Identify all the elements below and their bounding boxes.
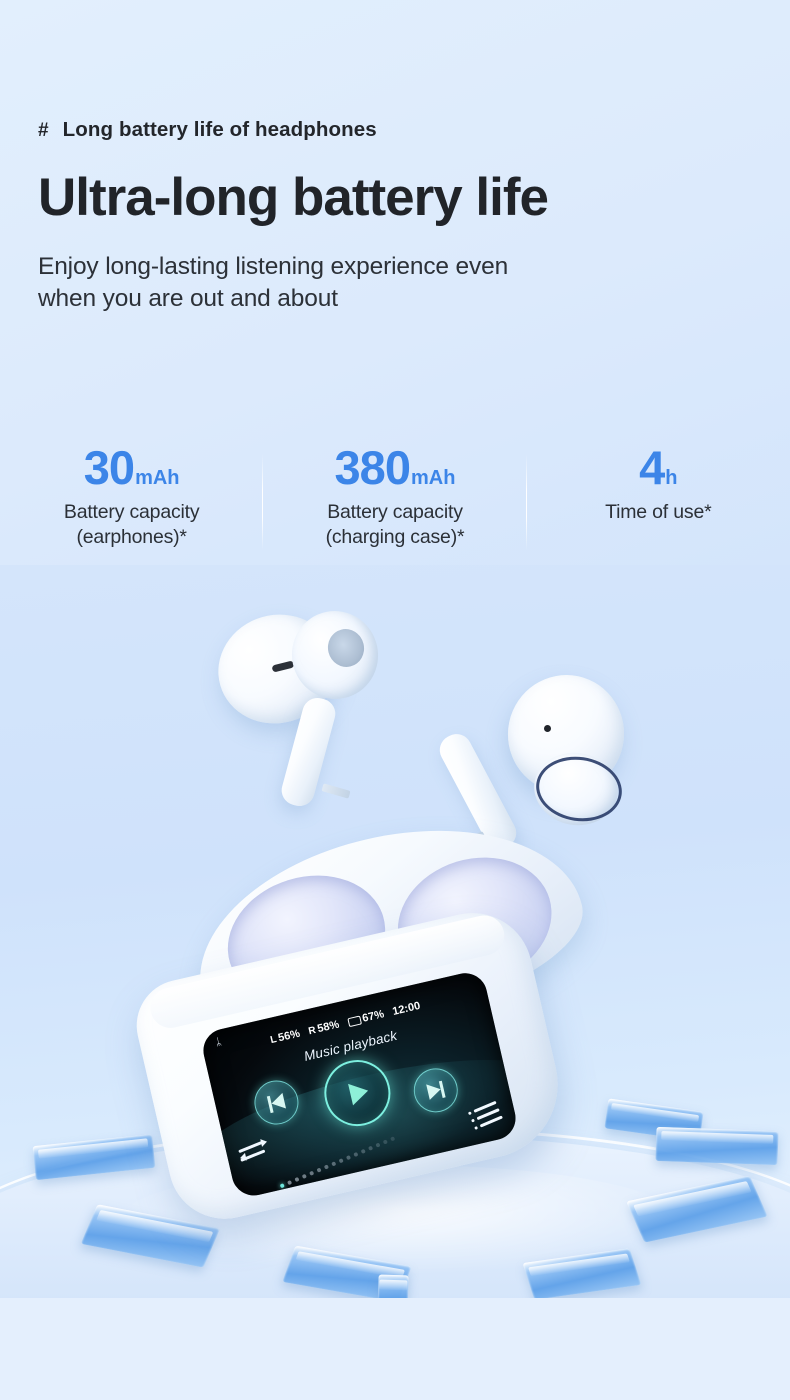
stat-number: 4 bbox=[639, 444, 664, 491]
earbud-right-mic-hole bbox=[544, 725, 551, 732]
previous-track-icon bbox=[270, 1093, 286, 1112]
eyebrow-text: Long battery life of headphones bbox=[63, 118, 377, 142]
stat-time-of-use: 4 h Time of use* bbox=[527, 440, 790, 565]
earbud-left-stem-tip bbox=[321, 783, 350, 798]
page-title: Ultra-long battery life bbox=[38, 170, 678, 225]
stat-number: 30 bbox=[84, 444, 134, 491]
left-bud-icon: L bbox=[269, 1034, 277, 1046]
hash-symbol: # bbox=[38, 120, 49, 142]
stat-number: 380 bbox=[335, 444, 410, 491]
right-bud-icon: R bbox=[307, 1024, 317, 1036]
stat-label-line-2: (charging case)* bbox=[263, 525, 526, 550]
header-copy-block: # Long battery life of headphones Ultra-… bbox=[38, 118, 678, 316]
play-icon bbox=[348, 1080, 370, 1105]
clock: 12:00 bbox=[391, 1000, 421, 1018]
earbud-left bbox=[214, 605, 404, 820]
eyebrow: # Long battery life of headphones bbox=[38, 118, 678, 142]
stat-label-line-1: Battery capacity bbox=[263, 500, 526, 525]
stat-battery-earphones: 30 mAh Battery capacity (earphones)* bbox=[0, 440, 263, 565]
battery-left-value: 56% bbox=[277, 1028, 301, 1045]
stat-label-line-1: Time of use* bbox=[527, 500, 790, 525]
product-scene: ᛦ L 56% R 58% 67% 12:00 bbox=[0, 565, 790, 1298]
stat-label: Battery capacity (charging case)* bbox=[263, 500, 526, 550]
battery-left-indicator: L 56% bbox=[269, 1028, 301, 1046]
stat-unit: mAh bbox=[135, 468, 179, 488]
glass-bar bbox=[377, 1274, 408, 1298]
page-subtitle: Enjoy long-lasting listening experience … bbox=[38, 251, 678, 316]
stat-value-group: 4 h bbox=[527, 444, 790, 491]
stat-label-line-1: Battery capacity bbox=[0, 500, 263, 525]
stat-label-line-2: (earphones)* bbox=[0, 525, 263, 550]
subtitle-line-2: when you are out and about bbox=[38, 283, 678, 315]
stat-label: Battery capacity (earphones)* bbox=[0, 500, 263, 550]
battery-right-indicator: R 58% bbox=[307, 1019, 340, 1038]
battery-case-value: 67% bbox=[361, 1008, 385, 1025]
subtitle-line-1: Enjoy long-lasting listening experience … bbox=[38, 251, 678, 283]
bottom-background-strip bbox=[0, 1298, 790, 1400]
stat-unit: mAh bbox=[411, 468, 455, 488]
stat-battery-case: 380 mAh Battery capacity (charging case)… bbox=[263, 440, 526, 565]
product-feature-page: # Long battery life of headphones Ultra-… bbox=[0, 0, 790, 1400]
glass-bar bbox=[655, 1127, 778, 1165]
case-battery-icon bbox=[347, 1015, 362, 1027]
stat-value-group: 30 mAh bbox=[0, 444, 263, 491]
stats-row: 30 mAh Battery capacity (earphones)* 380… bbox=[0, 440, 790, 565]
stat-label: Time of use* bbox=[527, 500, 790, 525]
stat-value-group: 380 mAh bbox=[263, 444, 526, 491]
stat-unit: h bbox=[665, 468, 677, 488]
battery-case-indicator: 67% bbox=[347, 1008, 386, 1028]
battery-right-value: 58% bbox=[316, 1019, 340, 1036]
